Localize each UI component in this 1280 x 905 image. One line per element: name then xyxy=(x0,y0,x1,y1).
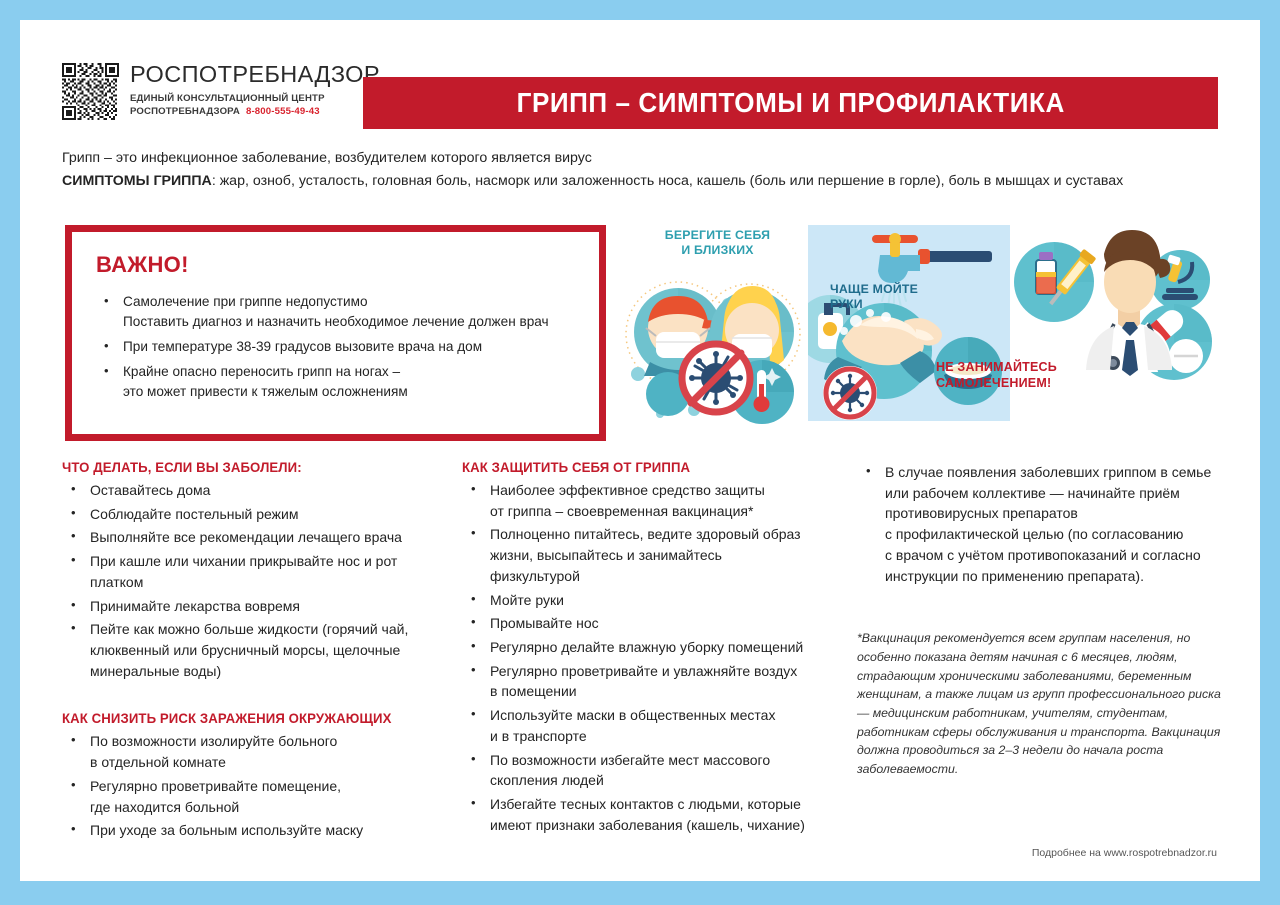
list-item: Соблюдайте постельный режим xyxy=(62,504,462,525)
what-to-do-list: Оставайтесь дома Соблюдайте постельный р… xyxy=(62,480,462,681)
qr-code-icon xyxy=(62,63,119,120)
organization-name: РОСПОТРЕБНАДЗОР xyxy=(130,62,380,87)
list-item: При кашле или чихании прикрывайте нос и … xyxy=(62,551,462,592)
content-columns: ЧТО ДЕЛАТЬ, ЕСЛИ ВЫ ЗАБОЛЕЛИ: Оставайтес… xyxy=(62,460,1227,844)
page-title: ГРИПП – СИМПТОМЫ И ПРОФИЛАКТИКА xyxy=(516,87,1064,119)
list-item: При температуре 38-39 градусов вызовите … xyxy=(96,337,577,357)
intro-symptoms: СИМПТОМЫ ГРИППА: жар, озноб, усталость, … xyxy=(62,170,1222,193)
list-item: Избегайте тесных контактов с людьми, кот… xyxy=(462,794,857,835)
consultation-center-line2: РОСПОТРЕБНАДЗОРА8-800-555-49-43 xyxy=(130,105,380,118)
vaccination-footnote: *Вакцинация рекомендуется всем группам н… xyxy=(857,629,1227,779)
list-item: Регулярно проветривайте помещение, где н… xyxy=(62,776,462,817)
section-heading: КАК СНИЗИТЬ РИСК ЗАРАЖЕНИЯ ОКРУЖАЮЩИХ xyxy=(62,711,450,726)
intro-text: Грипп – это инфекционное заболевание, во… xyxy=(62,147,1222,193)
column-antiviral-and-footnote: В случае появления заболевших гриппом в … xyxy=(857,460,1227,844)
poster-title-bar: ГРИПП – СИМПТОМЫ И ПРОФИЛАКТИКА xyxy=(363,77,1218,129)
list-item: Оставайтесь дома xyxy=(62,480,462,501)
list-item: По возможности избегайте мест массового … xyxy=(462,750,857,791)
list-item: Полноценно питайтесь, ведите здоровый об… xyxy=(462,524,857,586)
list-item: Промывайте нос xyxy=(462,613,857,634)
antiviral-list: В случае появления заболевших гриппом в … xyxy=(857,462,1227,586)
consultation-center-label: ЕДИНЫЙ КОНСУЛЬТАЦИОННЫЙ ЦЕНТР РОСПОТРЕБН… xyxy=(130,92,380,118)
intro-definition: Грипп – это инфекционное заболевание, во… xyxy=(62,147,1222,170)
list-item: Самолечение при гриппе недопустимо Поста… xyxy=(96,292,577,332)
list-item: Принимайте лекарства вовремя xyxy=(62,596,462,617)
column-how-to-protect: КАК ЗАЩИТИТЬ СЕБЯ ОТ ГРИППА Наиболее эфф… xyxy=(462,460,857,844)
list-item: Пейте как можно больше жидкости (горячий… xyxy=(62,619,462,681)
poster-page: РОСПОТРЕБНАДЗОР ЕДИНЫЙ КОНСУЛЬТАЦИОННЫЙ … xyxy=(20,20,1260,881)
wash-hands-graphic xyxy=(808,225,1010,421)
list-item: В случае появления заболевших гриппом в … xyxy=(857,462,1227,586)
list-item: По возможности изолируйте больного в отд… xyxy=(62,731,462,772)
list-item: При уходе за больным используйте маску xyxy=(62,820,462,841)
section-heading: ЧТО ДЕЛАТЬ, ЕСЛИ ВЫ ЗАБОЛЕЛИ: xyxy=(62,460,450,475)
illustration-no-self-medication: НЕ ЗАНИМАЙТЕСЬ САМОЛЕЧЕНИЕМ! xyxy=(1008,220,1223,440)
section-heading: КАК ЗАЩИТИТЬ СЕБЯ ОТ ГРИППА xyxy=(462,460,845,475)
list-item: Регулярно делайте влажную уборку помещен… xyxy=(462,637,857,658)
illustration-wash-hands: ЧАЩЕ МОЙТЕ РУКИ xyxy=(808,225,1010,421)
illustration-caption: ЧАЩЕ МОЙТЕ РУКИ xyxy=(830,282,918,313)
poster-header: РОСПОТРЕБНАДЗОР ЕДИНЫЙ КОНСУЛЬТАЦИОННЫЙ … xyxy=(20,20,1260,145)
consultation-center-line1: ЕДИНЫЙ КОНСУЛЬТАЦИОННЫЙ ЦЕНТР xyxy=(130,92,380,105)
illustration-protect-yourself: БЕРЕГИТЕ СЕБЯ И БЛИЗКИХ xyxy=(620,220,815,445)
important-callout-box: ВАЖНО! Самолечение при гриппе недопустим… xyxy=(65,225,606,441)
reduce-risk-list: По возможности изолируйте больного в отд… xyxy=(62,731,462,841)
list-item: Мойте руки xyxy=(462,590,857,611)
protect-yourself-list: Наиболее эффективное средство защиты от … xyxy=(462,480,857,836)
list-item: Крайне опасно переносить грипп на ногах … xyxy=(96,362,577,402)
illustration-caption: БЕРЕГИТЕ СЕБЯ И БЛИЗКИХ xyxy=(620,228,815,259)
important-list: Самолечение при гриппе недопустимо Поста… xyxy=(96,292,577,402)
no-virus-icon xyxy=(823,366,877,420)
vaccine-vial-icon xyxy=(1014,242,1096,322)
website-link[interactable]: Подробнее на www.rospotrebnadzor.ru xyxy=(1032,847,1217,859)
illustration-caption: НЕ ЗАНИМАЙТЕСЬ САМОЛЕЧЕНИЕМ! xyxy=(936,360,1166,391)
list-item: Выполняйте все рекомендации лечащего вра… xyxy=(62,527,462,548)
brand-block: РОСПОТРЕБНАДЗОР ЕДИНЫЙ КОНСУЛЬТАЦИОННЫЙ … xyxy=(62,61,380,120)
symptoms-list: : жар, озноб, усталость, головная боль, … xyxy=(212,173,1123,189)
list-item: Регулярно проветривайте и увлажняйте воз… xyxy=(462,661,857,702)
important-heading: ВАЖНО! xyxy=(96,252,577,278)
hotline-phone[interactable]: 8-800-555-49-43 xyxy=(246,106,320,117)
list-item: Наиболее эффективное средство защиты от … xyxy=(462,480,857,521)
brand-text-block: РОСПОТРЕБНАДЗОР ЕДИНЫЙ КОНСУЛЬТАЦИОННЫЙ … xyxy=(130,61,380,118)
column-what-to-do: ЧТО ДЕЛАТЬ, ЕСЛИ ВЫ ЗАБОЛЕЛИ: Оставайтес… xyxy=(62,460,462,844)
list-item: Используйте маски в общественных местах … xyxy=(462,705,857,746)
doctor-icon xyxy=(1086,230,1172,376)
protect-yourself-graphic xyxy=(620,262,815,442)
symptoms-label: СИМПТОМЫ ГРИППА xyxy=(62,173,212,189)
